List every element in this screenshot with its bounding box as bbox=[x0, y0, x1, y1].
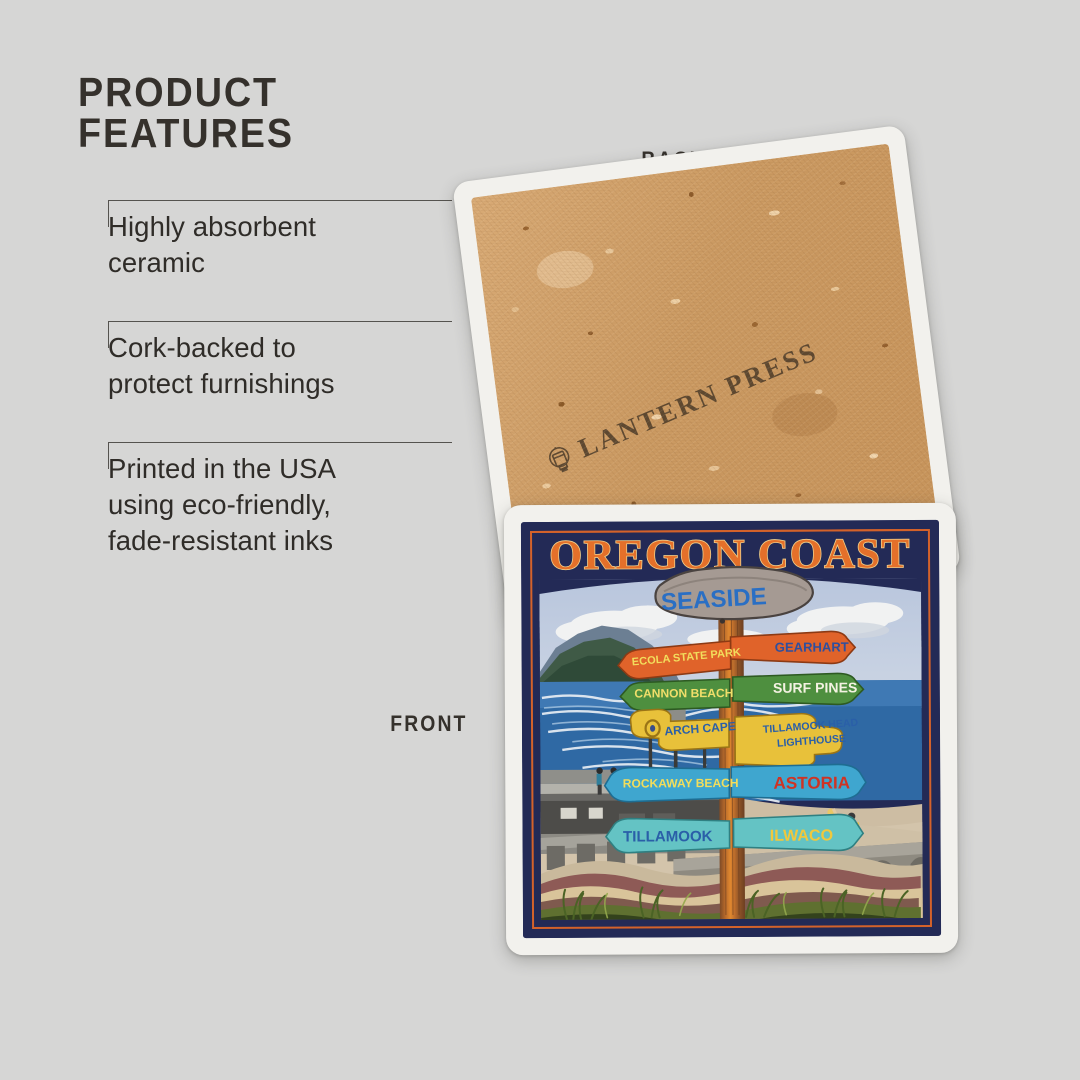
sign-tillamook-text: TILLAMOOK bbox=[623, 828, 713, 845]
feature-item-cork-backed: Cork-backed to protect furnishings bbox=[78, 321, 470, 402]
label-front: FRONT bbox=[390, 711, 467, 737]
sign-gearhart-text: GEARHART bbox=[775, 639, 849, 654]
feature-list: Highly absorbent ceramic Cork-backed to … bbox=[78, 200, 470, 559]
feature-item-printed-usa: Printed in the USA using eco-friendly, f… bbox=[78, 442, 470, 559]
sign-astoria-text: ASTORIA bbox=[773, 773, 850, 792]
product-feature-sheet: PRODUCT FEATURES Highly absorbent cerami… bbox=[0, 0, 1080, 1080]
sign-cannon-beach-text: CANNON BEACH bbox=[634, 686, 733, 700]
brand-stamp: LANTERN PRESS bbox=[542, 336, 823, 478]
sign-surf-pines-text: SURF PINES bbox=[773, 679, 857, 695]
product-features-panel: PRODUCT FEATURES Highly absorbent cerami… bbox=[78, 72, 470, 559]
feature-divider bbox=[108, 200, 452, 201]
sign-rockaway-beach-text: ROCKAWAY BEACH bbox=[623, 776, 739, 791]
feature-divider bbox=[108, 442, 452, 443]
sign-row-5: ILWACO TILLAMOOK bbox=[606, 814, 863, 852]
feature-divider bbox=[108, 321, 452, 322]
page-title: PRODUCT FEATURES bbox=[78, 72, 439, 154]
feature-text: Printed in the USA using eco-friendly, f… bbox=[108, 451, 470, 559]
artwork-illustration: OREGON COAST bbox=[521, 520, 941, 938]
sign-ilwaco-text: ILWACO bbox=[770, 827, 833, 845]
feature-text: Highly absorbent ceramic bbox=[108, 209, 470, 281]
brand-name: LANTERN PRESS bbox=[574, 336, 822, 464]
coaster-artwork: OREGON COAST bbox=[521, 520, 941, 938]
feature-text: Cork-backed to protect furnishings bbox=[108, 330, 470, 402]
coaster-front: OREGON COAST bbox=[504, 503, 958, 955]
sign-row-4: ASTORIA ROCKAWAY BEACH bbox=[605, 764, 866, 801]
feature-item-absorbent: Highly absorbent ceramic bbox=[78, 200, 470, 281]
lantern-icon bbox=[542, 440, 578, 478]
